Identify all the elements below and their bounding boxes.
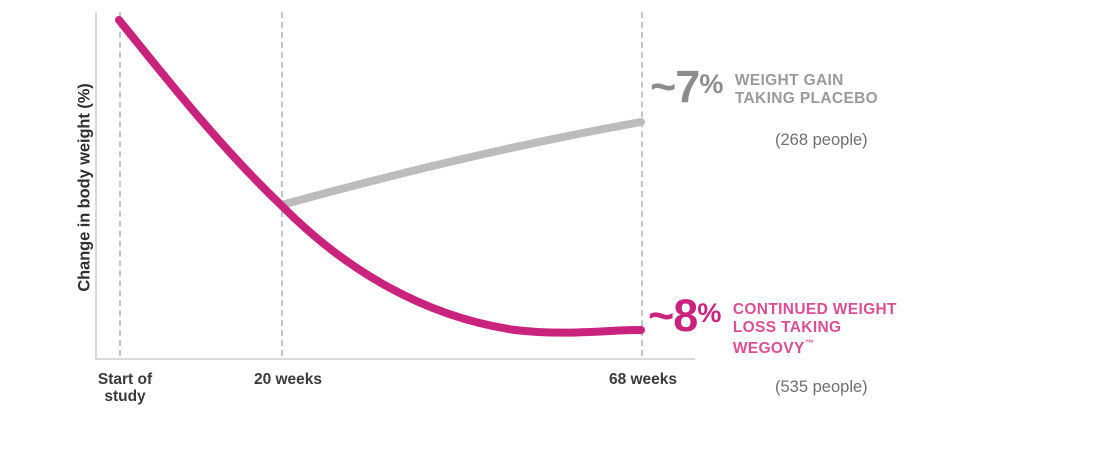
y-axis-title: Change in body weight (%) bbox=[76, 38, 95, 338]
callout-placebo-label: WEIGHT GAIN TAKING PLACEBO bbox=[723, 66, 878, 109]
callout-wegovy-number: ~8 bbox=[648, 290, 697, 341]
weight-change-chart: Change in body weight (%) Start of study… bbox=[0, 0, 1104, 463]
callout-placebo: ~7% WEIGHT GAIN TAKING PLACEBO bbox=[650, 66, 878, 109]
callout-placebo-number: ~7 bbox=[650, 61, 699, 112]
x-tick-start-of-study: Start of study bbox=[70, 371, 180, 406]
curve-layer bbox=[95, 12, 695, 360]
callout-wegovy-count: (535 people) bbox=[775, 378, 868, 397]
callout-wegovy: ~8% CONTINUED WEIGHT LOSS TAKING WEGOVY™ bbox=[648, 295, 897, 358]
x-tick-68-weeks: 68 weeks bbox=[578, 371, 708, 388]
callout-wegovy-value: ~8% bbox=[648, 295, 721, 338]
plot-area bbox=[95, 12, 695, 360]
callout-wegovy-label-text: CONTINUED WEIGHT LOSS TAKING WEGOVY bbox=[733, 301, 897, 357]
callout-wegovy-label: CONTINUED WEIGHT LOSS TAKING WEGOVY™ bbox=[721, 295, 897, 358]
x-tick-20-weeks: 20 weeks bbox=[223, 371, 353, 388]
callout-placebo-percent: % bbox=[699, 69, 723, 99]
callout-wegovy-percent: % bbox=[697, 298, 721, 328]
callout-placebo-count: (268 people) bbox=[775, 131, 868, 150]
trademark-icon: ™ bbox=[805, 338, 814, 348]
callout-placebo-value: ~7% bbox=[650, 66, 723, 109]
